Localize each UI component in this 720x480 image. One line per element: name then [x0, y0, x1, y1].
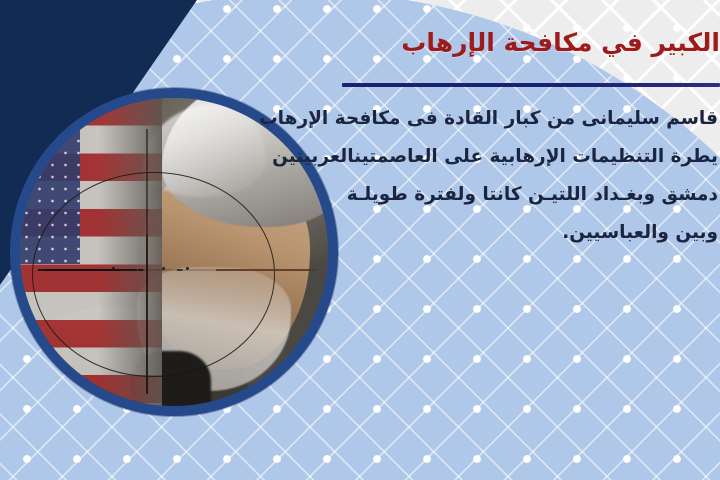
body-line: يطرة التنظيمات الإرهابية على العاصمتينال…: [158, 138, 718, 176]
poster-canvas: الكبير في مكافحة الإرهاب قاسم سليمانى من…: [0, 0, 720, 480]
crosshair-vertical-line: [146, 129, 148, 394]
title-underline-rule: [342, 83, 720, 87]
body-paragraph: قاسم سليمانى من كبار القادة فى مكافحة ال…: [158, 100, 718, 252]
body-line: دمشق وبغـداد اللتيـن كانتا ولفترة طويلـة: [158, 176, 718, 214]
body-line: وبين والعباسيين.: [158, 214, 718, 252]
page-title: الكبير في مكافحة الإرهاب: [20, 28, 720, 58]
crosshair-horizontal-line-left: [45, 269, 137, 271]
body-line: قاسم سليمانى من كبار القادة فى مكافحة ال…: [158, 100, 718, 138]
